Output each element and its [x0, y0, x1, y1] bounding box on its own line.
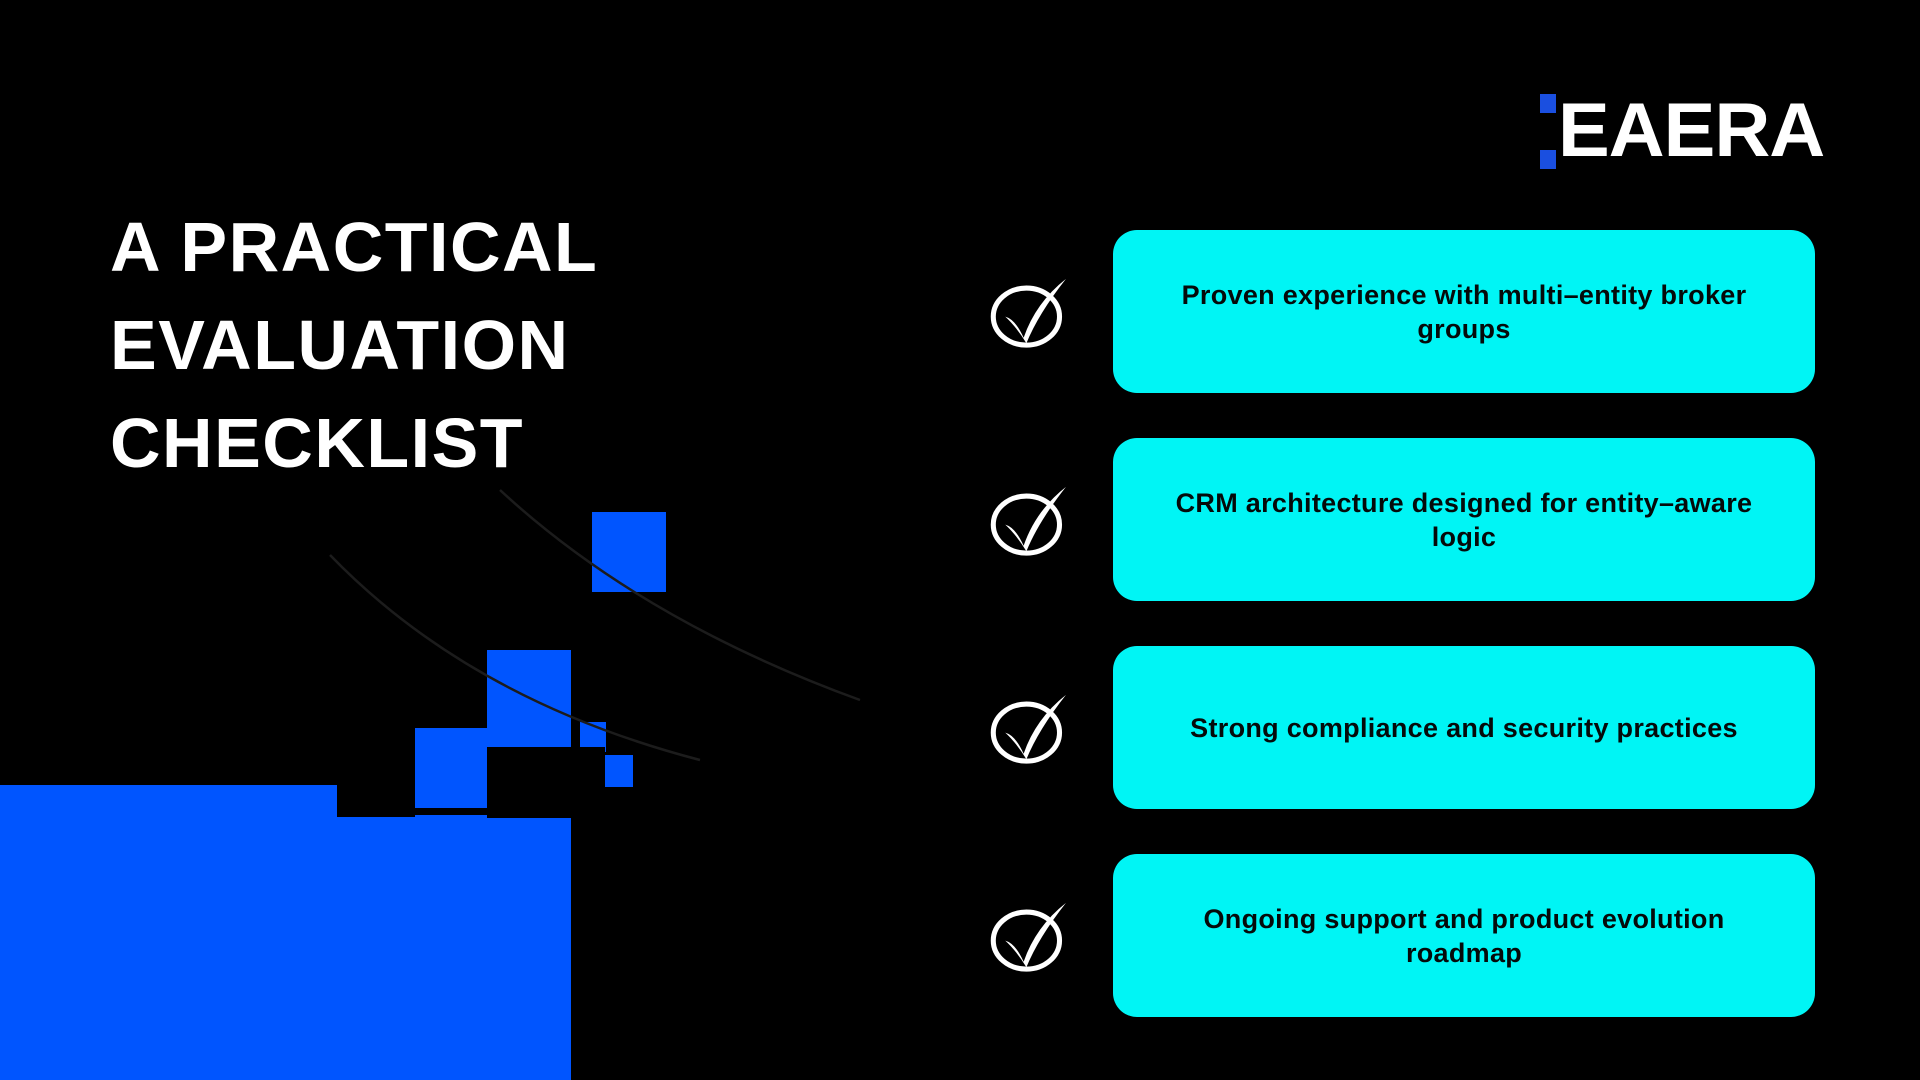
logo-wordmark: EAERA — [1558, 88, 1824, 174]
checklist-card[interactable]: Proven experience with multi–entity brok… — [1113, 230, 1815, 393]
checklist-item[interactable]: Ongoing support and product evolution ro… — [985, 854, 1815, 1017]
checklist-item[interactable]: Strong compliance and security practices — [985, 646, 1815, 809]
page-title-line-3: CHECKLIST — [110, 394, 840, 492]
checklist-card-label: Strong compliance and security practices — [1190, 711, 1738, 745]
checklist-card[interactable]: Ongoing support and product evolution ro… — [1113, 854, 1815, 1017]
checklist-card-label: Proven experience with multi–entity brok… — [1153, 278, 1775, 346]
check-circle-icon — [985, 682, 1077, 774]
page-title: A PRACTICAL EVALUATION CHECKLIST — [110, 198, 840, 492]
slide-canvas: EAERA A PRACTICAL EVALUATION CHECKLIST P… — [0, 0, 1920, 1080]
checklist-card-label: CRM architecture designed for entity–awa… — [1153, 486, 1775, 554]
checklist-card[interactable]: CRM architecture designed for entity–awa… — [1113, 438, 1815, 601]
checklist: Proven experience with multi–entity brok… — [985, 230, 1815, 1017]
brand-logo[interactable]: EAERA — [1540, 88, 1825, 174]
checklist-card-label: Ongoing support and product evolution ro… — [1153, 902, 1775, 970]
page-title-line-1: A PRACTICAL — [110, 198, 840, 296]
logo-accent-square-bottom — [1540, 150, 1556, 169]
checklist-item[interactable]: CRM architecture designed for entity–awa… — [985, 438, 1815, 601]
check-circle-icon — [985, 474, 1077, 566]
logo-accent-square-top — [1540, 94, 1556, 113]
page-title-line-2: EVALUATION — [110, 296, 840, 394]
checklist-item[interactable]: Proven experience with multi–entity brok… — [985, 230, 1815, 393]
check-circle-icon — [985, 266, 1077, 358]
check-circle-icon — [985, 890, 1077, 982]
checklist-card[interactable]: Strong compliance and security practices — [1113, 646, 1815, 809]
